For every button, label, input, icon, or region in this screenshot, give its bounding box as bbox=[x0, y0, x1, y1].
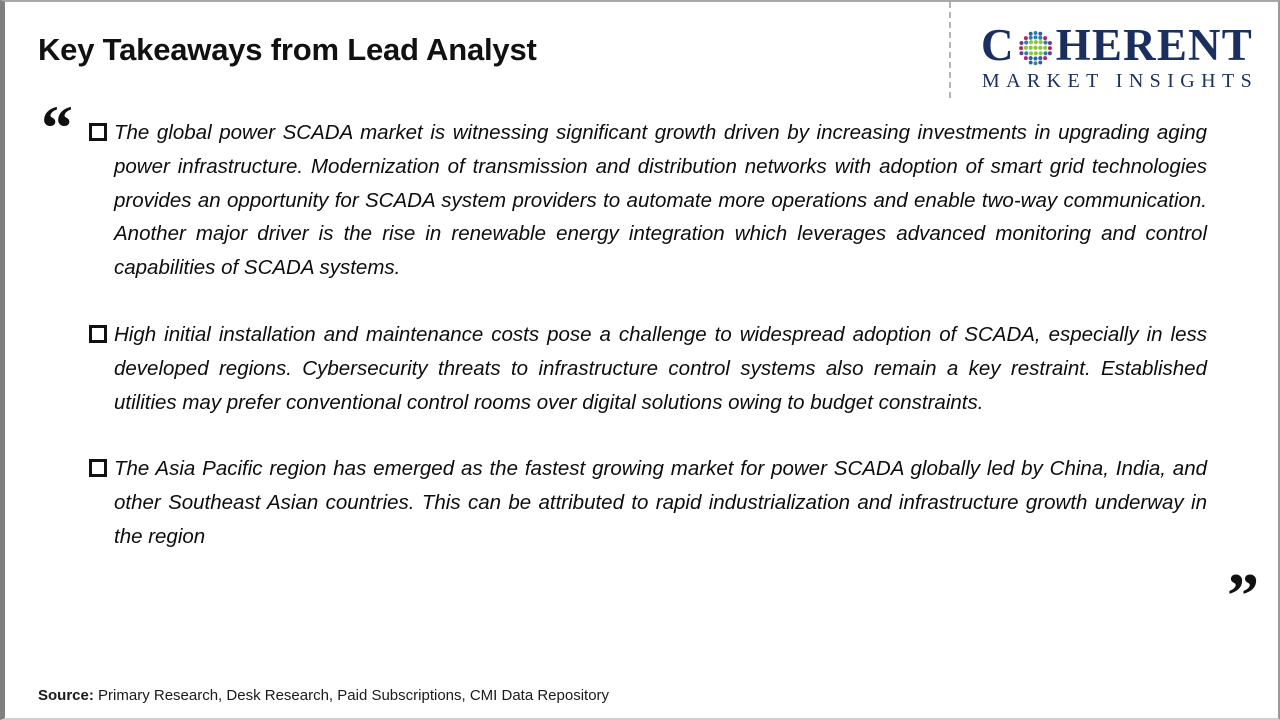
takeaway-text: High initial installation and maintenanc… bbox=[114, 318, 1207, 419]
logo-wordmark: C bbox=[967, 22, 1267, 68]
hollow-square-bullet-icon bbox=[89, 123, 107, 141]
logo-tagline: MARKET INSIGHTS bbox=[967, 70, 1267, 93]
list-item: The Asia Pacific region has emerged as t… bbox=[89, 452, 1207, 553]
takeaway-text: The Asia Pacific region has emerged as t… bbox=[114, 452, 1207, 553]
takeaways-list: The global power SCADA market is witness… bbox=[89, 116, 1207, 554]
hollow-square-bullet-icon bbox=[89, 325, 107, 343]
closing-quote-icon: ” bbox=[1227, 564, 1259, 628]
takeaway-text: The global power SCADA market is witness… bbox=[114, 116, 1207, 285]
source-value: Primary Research, Desk Research, Paid Su… bbox=[94, 687, 609, 704]
slide-canvas: Key Takeaways from Lead Analyst C bbox=[0, 0, 1280, 720]
hollow-square-bullet-icon bbox=[89, 459, 107, 477]
source-footer: Source: Primary Research, Desk Research,… bbox=[38, 687, 609, 704]
opening-quote-icon: “ bbox=[41, 96, 73, 160]
globe-dot-sphere-icon bbox=[1017, 29, 1054, 66]
page-title: Key Takeaways from Lead Analyst bbox=[38, 32, 537, 68]
list-item: High initial installation and maintenanc… bbox=[89, 318, 1207, 419]
list-item: The global power SCADA market is witness… bbox=[89, 116, 1207, 285]
logo-letters-herent: HERENT bbox=[1056, 22, 1253, 68]
brand-logo: C bbox=[967, 22, 1267, 98]
logo-letter-c: C bbox=[981, 22, 1015, 68]
logo-divider bbox=[949, 2, 951, 98]
source-label: Source: bbox=[38, 687, 94, 704]
